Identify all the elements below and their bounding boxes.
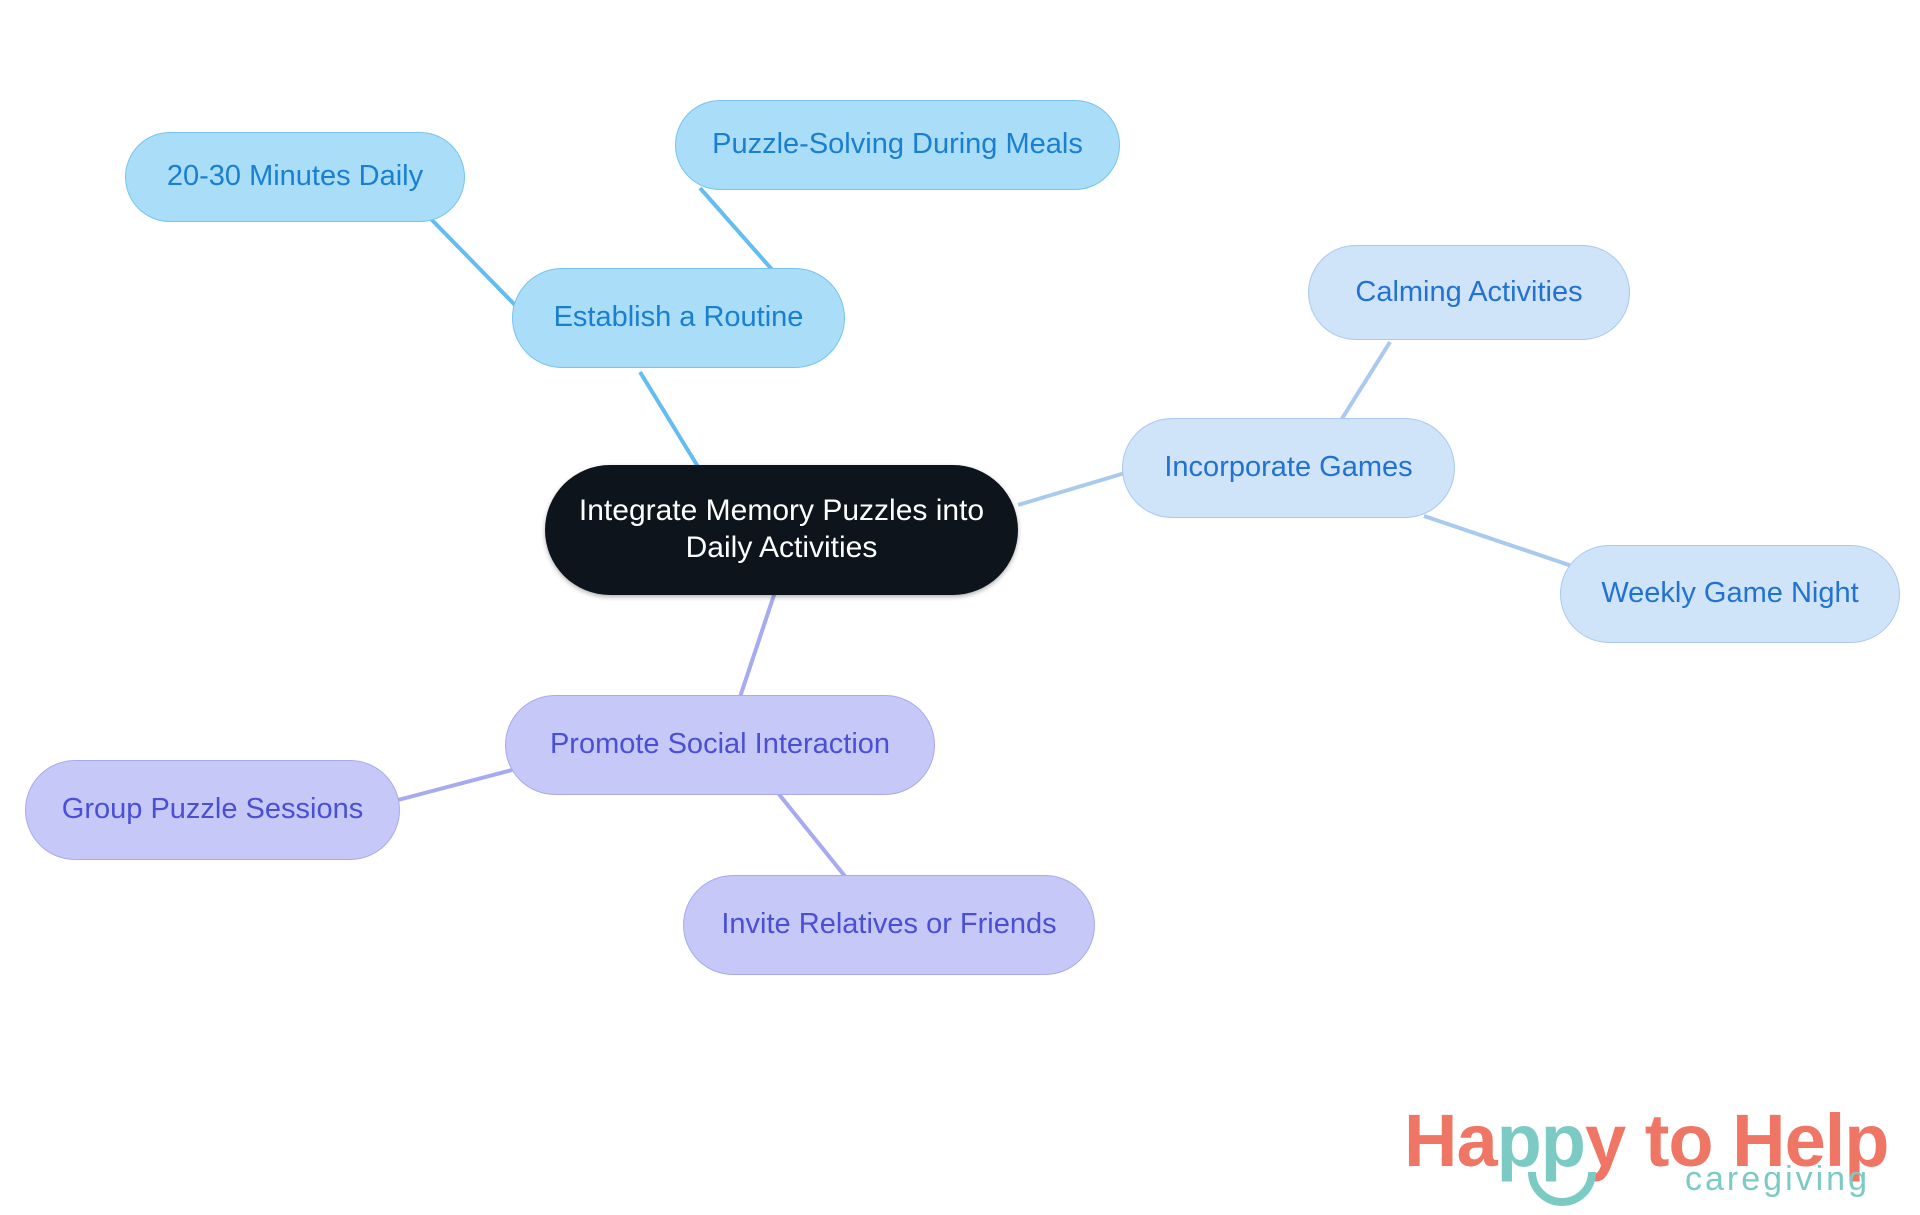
node-puzzle-solving-during-meals[interactable]: Puzzle-Solving During Meals [675,100,1120,190]
node-incorporate-games[interactable]: Incorporate Games [1122,418,1455,518]
edge-root-to-establish-a-routine [640,372,700,470]
edge-establish-a-routine-to-20-30-minutes-daily [430,218,515,305]
edge-root-to-incorporate-games [1018,470,1135,505]
node-promote-social-interaction[interactable]: Promote Social Interaction [505,695,935,795]
node-root[interactable]: Integrate Memory Puzzles into Daily Acti… [545,465,1018,595]
edge-incorporate-games-to-weekly-game-night [1424,516,1572,566]
node-calming-activities[interactable]: Calming Activities [1308,245,1630,340]
logo-tagline: caregiving [1685,1160,1870,1199]
logo-text-ha: Ha [1404,1099,1497,1182]
edge-promote-social-interaction-to-group-puzzle-sessions [398,770,512,800]
node-weekly-game-night[interactable]: Weekly Game Night [1560,545,1900,643]
smile-icon [1528,1170,1596,1206]
node-invite-relatives-or-friends[interactable]: Invite Relatives or Friends [683,875,1095,975]
edge-incorporate-games-to-calming-activities [1338,342,1390,425]
node-group-puzzle-sessions[interactable]: Group Puzzle Sessions [25,760,400,860]
node-establish-a-routine[interactable]: Establish a Routine [512,268,845,368]
brand-logo: Happy to Help caregiving [1404,1098,1874,1206]
mindmap-canvas: Integrate Memory Puzzles into Daily Acti… [0,0,1920,1215]
edge-promote-social-interaction-to-invite-relatives-or-friends [778,793,848,880]
edge-root-to-promote-social-interaction [740,592,775,697]
node-20-30-minutes-daily[interactable]: 20-30 Minutes Daily [125,132,465,222]
